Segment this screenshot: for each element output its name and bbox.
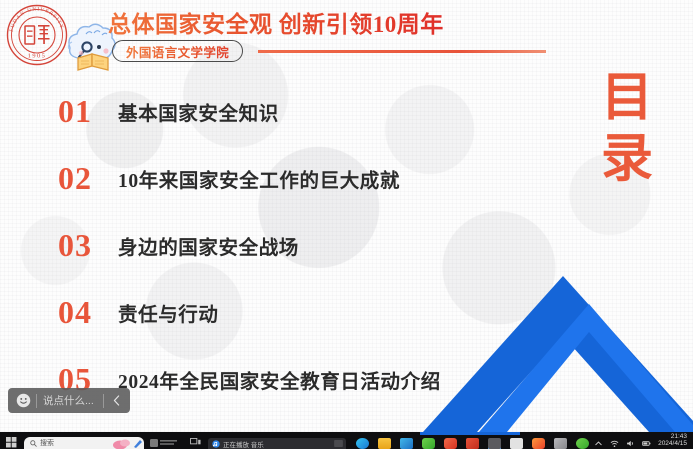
taskbar-clock[interactable]: 21:43 2024/4/15 — [658, 433, 687, 448]
video-slide-stage[interactable]: FUDAN UNIVERSITY 1905 — [0, 0, 693, 432]
toc-item-03: 03 身边的国家安全战场 — [0, 212, 560, 279]
network-icon[interactable] — [610, 439, 619, 448]
taskbar-widgets-button[interactable] — [144, 436, 184, 449]
music-note-icon — [212, 440, 220, 448]
toc-item-number: 03 — [0, 227, 118, 264]
taskbar-app-video[interactable] — [444, 438, 457, 449]
taskbar-app-browser-active[interactable] — [488, 438, 501, 449]
department-badge: 外国语言文学学院 — [112, 40, 243, 62]
slide-header: FUDAN UNIVERSITY 1905 — [0, 0, 693, 72]
toc-item-label: 基本国家安全知识 — [118, 97, 279, 126]
toc-item-label: 10年来国家安全工作的巨大成就 — [118, 164, 400, 193]
toc-heading-char-2: 录 — [592, 129, 662, 190]
toc-item-label: 2024年全民国家安全教育日活动介绍 — [118, 365, 441, 394]
taskbar-search-label: 搜索 — [40, 438, 54, 448]
toc-item-number: 01 — [0, 93, 118, 130]
chevron-left-icon[interactable] — [104, 388, 128, 413]
taskbar-app-pdf[interactable] — [466, 438, 479, 449]
taskbar-active-window-strip — [420, 432, 520, 435]
taskbar-clock-time: 21:43 — [658, 433, 687, 440]
svg-text:1905: 1905 — [28, 53, 46, 60]
taskbar-app-notes[interactable] — [510, 438, 523, 449]
now-playing-thumbnail — [334, 440, 343, 447]
windows-start-icon[interactable] — [0, 432, 22, 449]
volume-icon[interactable] — [626, 439, 635, 448]
smiley-face-icon[interactable] — [10, 388, 36, 413]
toc-item-02: 02 10年来国家安全工作的巨大成就 — [0, 145, 560, 212]
taskbar-app-music[interactable] — [554, 438, 567, 449]
toc-item-label: 责任与行动 — [118, 298, 219, 327]
toc-list: 01 基本国家安全知识 02 10年来国家安全工作的巨大成就 03 身边的国家安… — [0, 78, 560, 413]
taskbar-app-settings[interactable] — [576, 438, 589, 449]
taskbar-search-box[interactable]: 搜索 — [24, 437, 144, 449]
taskbar-app-icons[interactable] — [356, 438, 589, 449]
battery-icon[interactable] — [642, 439, 651, 448]
toc-item-number: 04 — [0, 294, 118, 331]
search-icon — [30, 440, 37, 447]
toc-item-01: 01 基本国家安全知识 — [0, 78, 560, 145]
taskbar-app-wechat[interactable] — [422, 438, 435, 449]
windows-taskbar[interactable]: 搜索 正在播放 音乐 — [0, 432, 693, 449]
toc-item-number: 02 — [0, 160, 118, 197]
taskbar-app-folder[interactable] — [378, 438, 391, 449]
comment-bar[interactable] — [8, 388, 130, 413]
taskbar-now-playing-label: 正在播放 音乐 — [223, 439, 264, 449]
task-view-icon[interactable] — [184, 432, 206, 449]
comment-input[interactable] — [37, 395, 103, 407]
toc-item-label: 身边的国家安全战场 — [118, 231, 299, 260]
toc-item-04: 04 责任与行动 — [0, 279, 560, 346]
taskbar-system-tray[interactable]: 21:43 2024/4/15 — [594, 433, 693, 449]
header-divider-line — [258, 50, 546, 53]
taskbar-app-store[interactable] — [400, 438, 413, 449]
slide-title: 总体国家安全观 创新引领10周年 — [108, 5, 444, 39]
taskbar-search-thumbnail — [110, 438, 144, 449]
chevron-up-icon[interactable] — [594, 439, 603, 448]
taskbar-app-edge[interactable] — [356, 438, 369, 449]
taskbar-now-playing-pill[interactable]: 正在播放 音乐 — [208, 438, 346, 449]
toc-heading-char-1: 目 — [592, 68, 662, 129]
taskbar-app-bilibili[interactable] — [532, 438, 545, 449]
taskbar-clock-date: 2024/4/15 — [658, 440, 687, 447]
toc-heading: 目 录 — [592, 68, 662, 191]
